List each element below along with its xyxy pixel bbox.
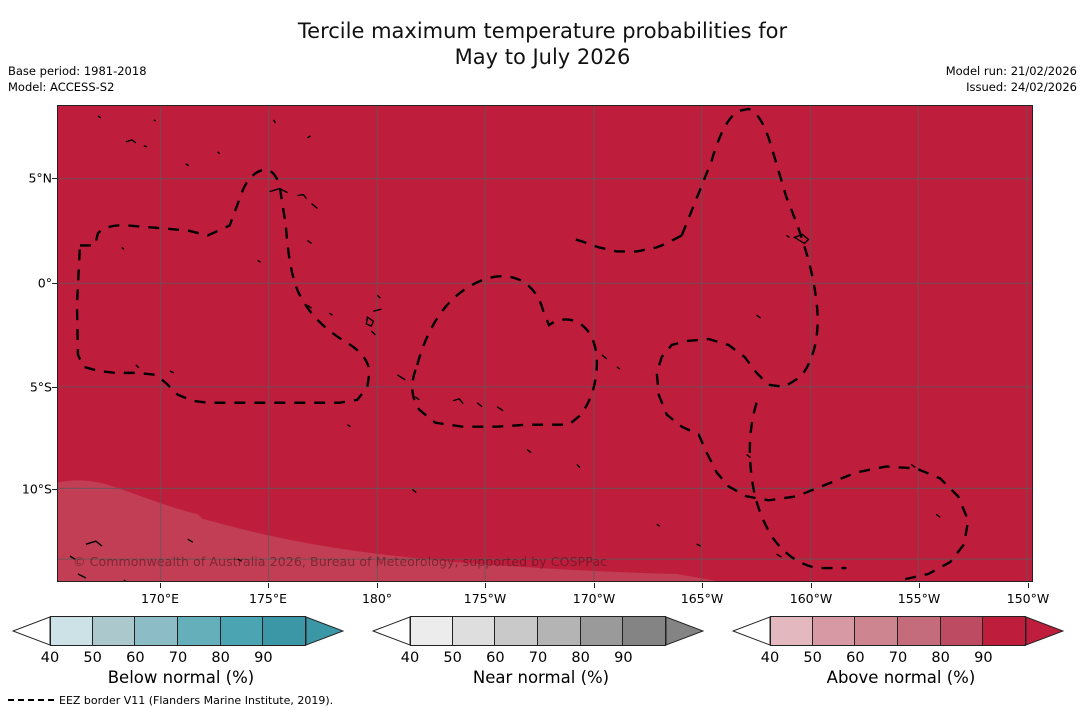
colorbar-near-normal-segment-70-80 (538, 616, 581, 646)
colorbar-above-normal-segment-70-80 (898, 616, 941, 646)
xtick-mark-175w (485, 583, 486, 588)
ytick-label-0: 0° (4, 276, 52, 291)
footer-legend-text: EEZ border V11 (Flanders Marine Institut… (59, 694, 333, 707)
colorbar-above-normal-segment-80-90 (941, 616, 984, 646)
colorbar-below-normal-tick-80: 80 (211, 650, 229, 666)
xtick-mark-180 (377, 583, 378, 588)
colorbar-below-normal-tick-90: 90 (254, 650, 272, 666)
title-line-2: May to July 2026 (0, 44, 1085, 70)
map-copyright: © Commonwealth of Australia 2026, Bureau… (73, 554, 607, 569)
metadata-left: Base period: 1981-2018 Model: ACCESS-S2 (8, 63, 147, 95)
xtick-label-180: 180° (362, 591, 392, 606)
colorbar-above-normal-segment-40-50 (770, 616, 813, 646)
ytick-label-5s: 5°S (4, 380, 52, 395)
colorbar-near-normal-tick-40: 40 (401, 650, 419, 666)
xtick-mark-155w (919, 583, 920, 588)
colorbar-below-normal-strip (6, 616, 356, 646)
page-title: Tercile maximum temperature probabilitie… (0, 18, 1085, 70)
xtick-mark-170e (160, 583, 161, 588)
footer-legend: EEZ border V11 (Flanders Marine Institut… (8, 694, 333, 707)
colorbar-near-normal-tick-70: 70 (529, 650, 547, 666)
colorbar-above-normal-strip (726, 616, 1076, 646)
colorbar-near-normal-tick-50: 50 (443, 650, 461, 666)
xtick-label-150w: 150°W (1007, 591, 1049, 606)
ytick-mark-5s (52, 387, 57, 388)
colorbar-above-normal-tick-90: 90 (974, 650, 992, 666)
colorbar-above-normal: Above normal (%) 405060708090 (726, 610, 1076, 690)
xtick-label-175w: 175°W (464, 591, 506, 606)
colorbar-above-normal-under-cap (732, 616, 770, 646)
colorbar-below-normal-tick-60: 60 (126, 650, 144, 666)
colorbar-below-normal-tick-50: 50 (83, 650, 101, 666)
colorbar-near-normal-tick-90: 90 (614, 650, 632, 666)
ytick-mark-5n (52, 178, 57, 179)
ytick-mark-0 (52, 283, 57, 284)
xtick-mark-175e (268, 583, 269, 588)
eez-dash-sample (8, 699, 54, 702)
colorbar-below-normal-segment-70-80 (178, 616, 221, 646)
colorbar-above-normal-segment-50-60 (813, 616, 856, 646)
colorbar-above-normal-tick-50: 50 (803, 650, 821, 666)
xtick-label-170e: 170°E (141, 591, 179, 606)
issued-label: Issued: 24/02/2026 (946, 79, 1077, 95)
colorbar-below-normal-under-cap (12, 616, 50, 646)
colorbar-near-normal-segment->90 (623, 616, 666, 646)
xtick-label-160w: 160°W (790, 591, 832, 606)
colorbar-above-normal-over-cap (1026, 616, 1064, 646)
colorbar-below-normal-segment-40-50 (50, 616, 93, 646)
colorbar-near-normal-segment-60-70 (495, 616, 538, 646)
xtick-mark-150w (1028, 583, 1029, 588)
colorbar-above-normal-tick-60: 60 (846, 650, 864, 666)
colorbar-near-normal-over-cap (666, 616, 704, 646)
colorbar-above-normal-segment->90 (983, 616, 1026, 646)
colorbar-below-normal-segment->90 (263, 616, 306, 646)
colorbar-below-normal-title: Below normal (%) (6, 668, 356, 687)
colorbar-below-normal-tick-70: 70 (169, 650, 187, 666)
colorbar-above-normal-tick-80: 80 (931, 650, 949, 666)
xtick-mark-165w (702, 583, 703, 588)
model-run-label: Model run: 21/02/2026 (946, 63, 1077, 79)
xtick-label-155w: 155°W (898, 591, 940, 606)
colorbar-near-normal-strip (366, 616, 716, 646)
colorbar-near-normal-under-cap (372, 616, 410, 646)
xtick-label-175e: 175°E (249, 591, 287, 606)
colorbar-near-normal: Near normal (%) 405060708090 (366, 610, 716, 690)
colorbar-near-normal-title: Near normal (%) (366, 668, 716, 687)
colorbar-above-normal-tick-70: 70 (889, 650, 907, 666)
colorbar-near-normal-tick-80: 80 (571, 650, 589, 666)
base-period-label: Base period: 1981-2018 (8, 63, 147, 79)
colorbar-near-normal-segment-50-60 (453, 616, 496, 646)
colorbar-below-normal-segment-80-90 (221, 616, 264, 646)
colorbar-near-normal-segment-40-50 (410, 616, 453, 646)
map-plot-area: © Commonwealth of Australia 2026, Bureau… (57, 105, 1033, 582)
ytick-label-10s: 10°S (4, 482, 52, 497)
colorbar-below-normal-segment-60-70 (135, 616, 178, 646)
colorbar-below-normal-tick-40: 40 (41, 650, 59, 666)
xtick-label-170w: 170°W (573, 591, 615, 606)
colorbar-above-normal-tick-40: 40 (761, 650, 779, 666)
map-background (58, 106, 1032, 581)
colorbar-near-normal-segment-80-90 (581, 616, 624, 646)
xtick-mark-170w (594, 583, 595, 588)
map-canvas (58, 106, 1032, 581)
colorbar-below-normal-segment-50-60 (93, 616, 136, 646)
xtick-mark-160w (811, 583, 812, 588)
title-line-1: Tercile maximum temperature probabilitie… (0, 18, 1085, 44)
ytick-label-5n: 5°N (4, 171, 52, 186)
colorbar-near-normal-tick-60: 60 (486, 650, 504, 666)
metadata-right: Model run: 21/02/2026 Issued: 24/02/2026 (946, 63, 1077, 95)
colorbar-above-normal-title: Above normal (%) (726, 668, 1076, 687)
xtick-label-165w: 165°W (681, 591, 723, 606)
colorbar-below-normal-over-cap (306, 616, 344, 646)
colorbar-below-normal: Below normal (%) 405060708090 (6, 610, 356, 690)
model-label: Model: ACCESS-S2 (8, 79, 147, 95)
ytick-mark-10s (52, 489, 57, 490)
colorbar-above-normal-segment-60-70 (855, 616, 898, 646)
